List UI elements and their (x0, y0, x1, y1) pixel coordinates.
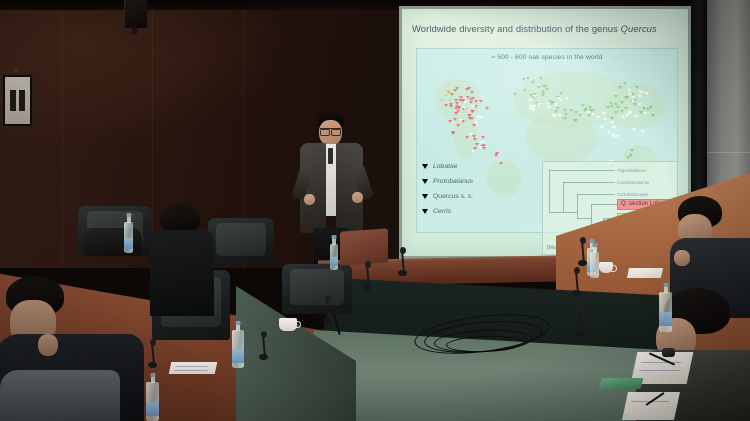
attendee-hand (674, 250, 690, 266)
species-marker (542, 85, 546, 88)
species-marker (495, 152, 499, 155)
speaker-mount (132, 27, 137, 34)
attendee-hand (38, 334, 58, 356)
species-marker (554, 103, 558, 106)
microphone-base[interactable] (259, 354, 268, 360)
species-marker (531, 109, 535, 112)
species-marker (456, 124, 460, 127)
cladogram-branch (563, 212, 577, 213)
species-marker (629, 154, 633, 157)
species-marker (565, 97, 569, 100)
species-marker (634, 115, 638, 118)
species-marker (563, 117, 567, 120)
species-marker (481, 136, 485, 139)
bottle-cap (332, 235, 337, 239)
microphone-head (400, 247, 406, 254)
species-marker (596, 116, 600, 119)
cup-handle (295, 321, 301, 328)
species-marker (448, 99, 452, 102)
cladogram-tip-trigonobalanus: Trigonobalanus (617, 168, 646, 173)
species-marker (528, 99, 532, 102)
species-marker (533, 95, 537, 98)
species-marker (480, 141, 484, 144)
species-marker (440, 99, 444, 102)
species-marker (612, 126, 616, 129)
species-marker (611, 133, 615, 136)
legend-item-quercus-ss: Quercus s. s. (422, 189, 473, 204)
triangle-white-icon (422, 194, 428, 199)
species-marker (448, 120, 452, 123)
species-marker (471, 97, 475, 100)
species-marker (485, 107, 489, 110)
water-bottle (330, 244, 338, 270)
bottle-label (232, 349, 244, 363)
bottle-neck (127, 216, 131, 223)
species-marker (633, 103, 637, 106)
bottle-cap (663, 283, 668, 287)
species-marker (539, 77, 543, 80)
species-marker (651, 114, 655, 117)
legend-item-protobalanus: Protobalanus (422, 174, 473, 189)
species-marker (559, 92, 563, 95)
legend-item-cerris: Cerris (422, 204, 473, 219)
species-marker (471, 105, 475, 108)
cladogram-tip-colombobalanus: Colombobalanus (617, 180, 649, 185)
species-marker (578, 114, 582, 117)
bottle-label (146, 402, 159, 416)
microphone-head (580, 237, 586, 244)
species-marker (649, 106, 653, 109)
species-marker (554, 110, 558, 113)
species-marker (620, 101, 624, 104)
species-marker (642, 107, 646, 110)
bottle-cap (236, 321, 241, 325)
species-marker (569, 109, 573, 112)
cladogram-branch (563, 182, 615, 183)
triangle-green-icon (422, 209, 428, 214)
cladogram-branch (563, 182, 564, 212)
presenter-hand-left (304, 194, 315, 205)
side-wall-trim (706, 152, 750, 153)
table-puck (662, 348, 675, 357)
species-marker (631, 96, 635, 99)
microphone-base[interactable] (578, 260, 587, 266)
cladogram-branch (577, 218, 591, 219)
species-marker (588, 106, 592, 109)
species-marker (552, 115, 556, 118)
species-marker (610, 121, 614, 124)
species-marker (574, 119, 578, 122)
microphone-base[interactable] (398, 270, 407, 276)
legend-label-protobalanus: Protobalanus (433, 178, 473, 185)
species-marker (470, 91, 474, 94)
notepad (622, 392, 680, 420)
species-marker (623, 82, 627, 85)
bottle-neck (332, 238, 336, 245)
microphone-head (325, 295, 331, 302)
wall-speaker (124, 0, 147, 28)
water-bottle (659, 292, 672, 332)
picture-bar (10, 90, 16, 112)
species-marker (602, 112, 606, 115)
species-marker (574, 111, 578, 114)
species-marker (531, 81, 535, 84)
water-bottle (124, 222, 133, 253)
species-marker (564, 113, 568, 116)
chair-pad (290, 269, 343, 305)
green-tablet[interactable] (598, 378, 643, 389)
microphone-head (261, 331, 267, 338)
microphone-base[interactable] (572, 290, 581, 296)
species-marker (547, 106, 551, 109)
species-marker (526, 77, 530, 80)
notepad-line (175, 366, 208, 367)
species-marker (631, 100, 635, 103)
species-marker (537, 86, 541, 89)
triangle-red-icon (422, 164, 428, 169)
species-marker (468, 117, 472, 120)
bottle-neck (151, 376, 155, 383)
legend-label-cerris: Cerris (433, 208, 451, 215)
notepad-line (174, 370, 207, 371)
species-marker (469, 133, 473, 136)
species-marker (643, 112, 647, 115)
species-marker (457, 107, 461, 110)
species-marker (563, 109, 567, 112)
species-marker (444, 104, 448, 107)
picture-mat (5, 77, 30, 124)
landmass-africa (525, 111, 597, 163)
slide-title-text: Worldwide diversity and distribution of … (412, 23, 621, 34)
map-subtitle: ≈ 500 - 600 oak species in the world (417, 54, 677, 61)
species-marker (455, 102, 459, 105)
species-marker (473, 138, 477, 141)
bottle-cap (150, 373, 155, 377)
species-marker (635, 86, 639, 89)
species-marker (644, 92, 648, 95)
species-marker (606, 106, 610, 109)
cladogram-branch (549, 212, 563, 213)
microphone-head (574, 267, 580, 274)
laptop (340, 228, 388, 265)
coffee-cup (599, 262, 613, 273)
cladogram-tip-cyclobalanopsis: Cyclobalanopsis (617, 192, 648, 197)
species-marker (618, 86, 622, 89)
bottle-neck (664, 286, 668, 293)
species-marker (610, 105, 614, 108)
species-marker (641, 130, 645, 133)
species-marker (625, 114, 629, 117)
species-marker (451, 131, 455, 134)
species-marker (513, 93, 517, 96)
water-bottle (146, 382, 159, 421)
species-marker (474, 121, 478, 124)
species-marker (614, 95, 618, 98)
chair (282, 264, 352, 314)
species-marker (465, 88, 469, 91)
species-marker (610, 117, 614, 120)
species-marker (470, 110, 474, 113)
species-marker (465, 136, 469, 139)
species-marker (454, 112, 458, 115)
species-marker (638, 90, 642, 93)
wall-panel-seam (62, 0, 63, 268)
cladogram-branch (577, 194, 615, 195)
species-marker (459, 119, 463, 122)
species-marker (638, 103, 642, 106)
picture-hook (14, 69, 18, 73)
species-marker (600, 126, 604, 129)
chair (208, 218, 274, 264)
species-marker (472, 124, 476, 127)
species-marker (471, 150, 475, 153)
species-marker (591, 113, 595, 116)
triangle-yellow-icon (422, 179, 428, 184)
species-marker (474, 100, 478, 103)
legend-label-quercus-ss: Quercus s. s. (433, 193, 473, 200)
species-marker (609, 102, 613, 105)
attendee-far-left (0, 370, 120, 421)
species-marker (523, 89, 527, 92)
microphone-head (578, 307, 584, 314)
coffee-cup (279, 318, 297, 331)
species-marker (638, 95, 642, 98)
presenter-glasses (320, 128, 341, 133)
bottle-label (124, 238, 133, 249)
species-marker (621, 116, 625, 119)
species-marker (459, 96, 463, 99)
species-marker (448, 91, 452, 94)
species-marker (632, 128, 636, 131)
cup-handle (611, 265, 617, 272)
bottle-cap (126, 213, 131, 217)
conference-room-scene: Worldwide diversity and distribution of … (0, 0, 750, 421)
species-marker (627, 89, 631, 92)
picture-bar (19, 90, 25, 112)
species-marker (469, 101, 473, 104)
microphone-head (150, 339, 156, 346)
species-marker (453, 118, 457, 121)
species-marker (537, 103, 541, 106)
species-marker (479, 100, 483, 103)
legend-label-lobatae: Lobatae (433, 163, 458, 170)
species-marker (449, 105, 453, 108)
presenter-hand-right (352, 192, 363, 203)
species-marker (479, 146, 483, 149)
species-marker (559, 99, 563, 102)
microphone-base[interactable] (148, 362, 157, 368)
cladogram-branch (577, 194, 578, 218)
species-marker (522, 78, 526, 81)
species-marker (466, 96, 470, 99)
bottle-neck (236, 324, 240, 331)
water-bottle (590, 252, 599, 278)
attendee-shoulder (0, 370, 120, 421)
species-marker (616, 135, 620, 138)
water-bottle (232, 330, 244, 368)
bottle-label (330, 257, 338, 266)
cladogram-branch (549, 170, 550, 212)
species-marker (499, 162, 503, 165)
species-marker (620, 110, 624, 113)
shoulder-bag (84, 228, 142, 256)
species-marker (463, 101, 467, 104)
species-marker (546, 103, 550, 106)
framed-picture (2, 74, 33, 127)
species-marker (558, 114, 562, 117)
species-marker (624, 96, 628, 99)
microphone-base[interactable] (323, 318, 332, 324)
species-marker (533, 105, 537, 108)
bottle-neck (593, 246, 597, 253)
species-marker (479, 116, 483, 119)
map-legend: Lobatae Protobalanus Quercus s. s. Cerri… (422, 159, 473, 219)
chair-pad (216, 223, 266, 256)
cladogram-branch (549, 170, 615, 171)
slide-title: Worldwide diversity and distribution of … (412, 23, 684, 34)
cladogram-branch (591, 204, 617, 205)
microphone-base[interactable] (576, 330, 585, 336)
microphone-head (365, 261, 371, 268)
species-marker (463, 107, 467, 110)
species-marker (541, 92, 545, 95)
notepad (169, 362, 218, 374)
landmass-central-america (487, 161, 521, 197)
species-marker (630, 149, 634, 152)
species-marker (603, 118, 607, 121)
species-marker (455, 87, 459, 90)
notepad (627, 268, 663, 278)
microphone-base[interactable] (363, 284, 372, 290)
notepad-line (639, 370, 680, 371)
bottle-label (659, 312, 672, 326)
species-marker (624, 107, 628, 110)
legend-item-lobatae: Lobatae (422, 159, 473, 174)
presenter-tie (328, 148, 333, 164)
species-marker (444, 94, 448, 97)
slide-title-genus: Quercus (621, 23, 657, 34)
species-marker (614, 111, 618, 114)
species-marker (639, 111, 643, 114)
species-marker (587, 111, 591, 114)
species-marker (581, 104, 585, 107)
species-marker (616, 106, 620, 109)
bottle-cap (592, 243, 597, 247)
species-marker (628, 93, 632, 96)
species-marker (545, 88, 549, 91)
